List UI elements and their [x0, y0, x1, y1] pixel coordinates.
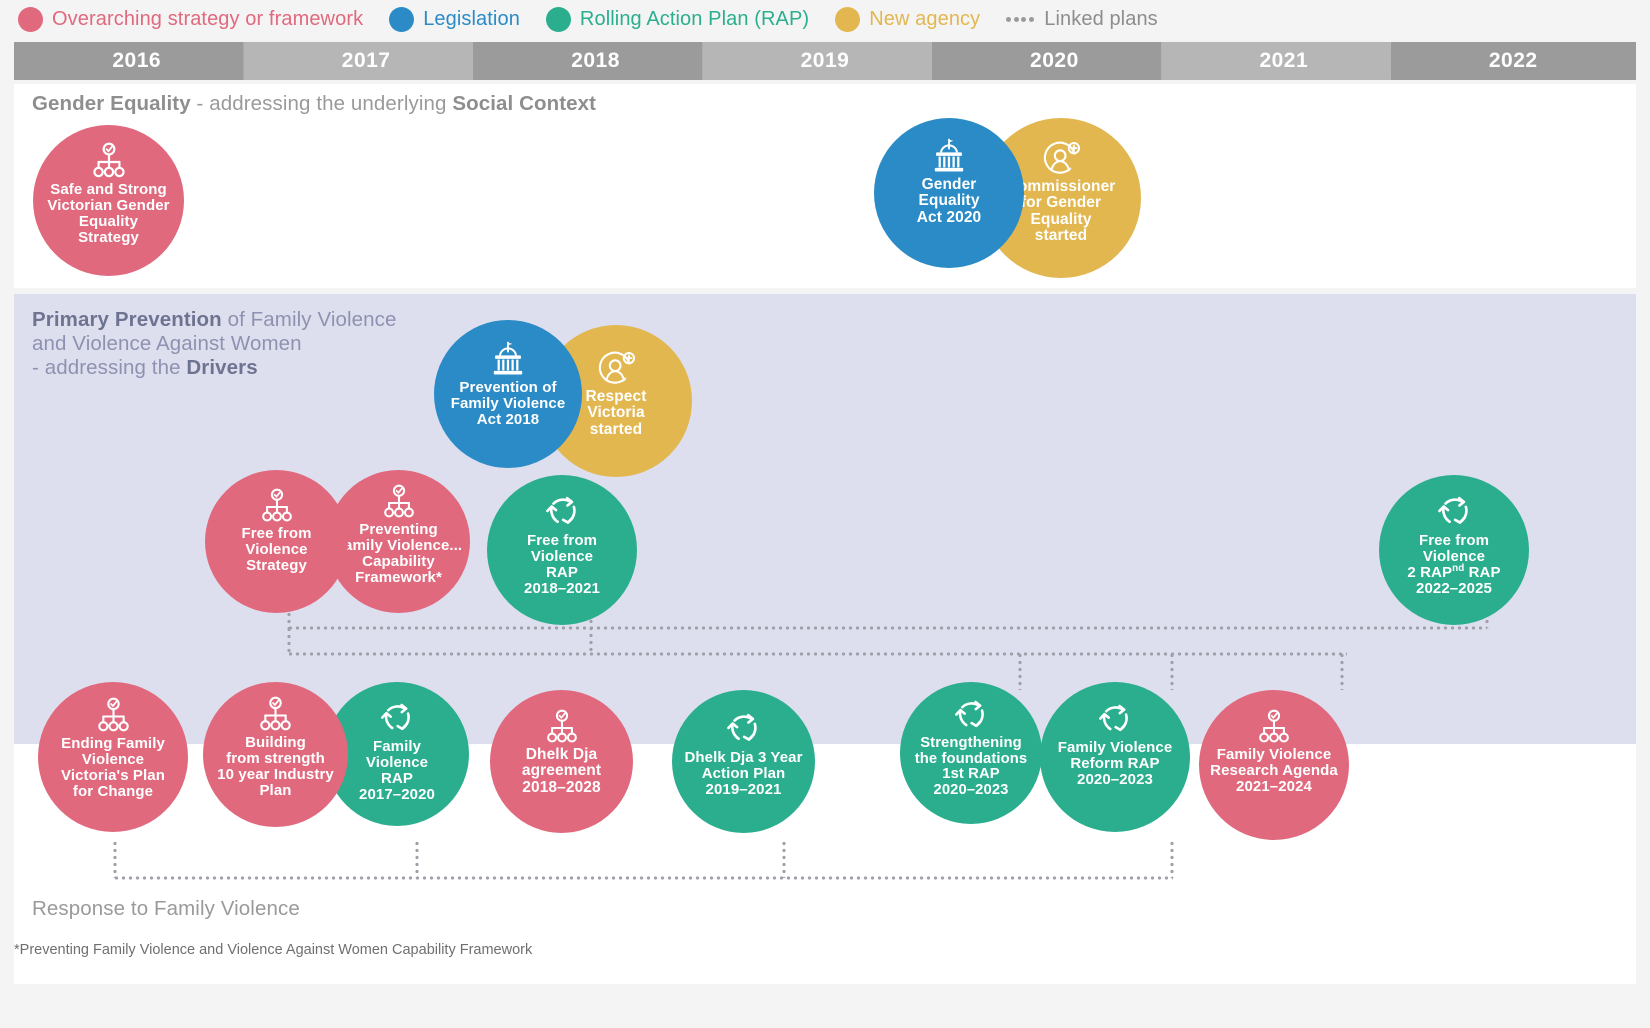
node-label-line: Violence: [331, 755, 463, 771]
node-label: Free fromViolence2 RAPnd RAP2022–2025: [1379, 533, 1529, 597]
cycle-arrows-icon: [1434, 492, 1475, 533]
node-label: Prevention ofFamily ViolenceAct 2018: [434, 380, 582, 428]
node-label-line: Equality: [39, 214, 178, 230]
org-chart-check-icon: [1255, 709, 1293, 747]
node-label-line: Family Violence: [1205, 747, 1343, 763]
node-date-range: 2022–2025: [1385, 581, 1523, 597]
parliament-building-icon: [488, 340, 528, 380]
legend-label-rap: Rolling Action Plan (RAP): [580, 8, 809, 31]
cycle-arrows-icon: [951, 696, 991, 736]
dotted-line-swatch-icon: [1006, 17, 1036, 22]
node-label: Ending FamilyViolenceVictoria's Planfor …: [38, 736, 188, 800]
node-label-line: Strategy: [211, 558, 342, 574]
node-family-violence-reform-rap[interactable]: Family ViolenceReform RAP2020–2023: [1040, 682, 1190, 832]
node-label-line: Reform RAP: [1046, 756, 1184, 772]
node-preventing-family-violence-capability-framework[interactable]: PreventingFamily Violence...CapabilityFr…: [327, 470, 470, 613]
node-label-line: for Change: [44, 784, 182, 800]
year-chevron-2020: 2020: [932, 42, 1177, 80]
node-label-line: Violence: [493, 549, 631, 565]
band-title-prevention-line2: and Violence Against Women: [32, 332, 397, 356]
circle-swatch-agency-icon: [835, 7, 860, 32]
org-chart-check-icon: [258, 488, 296, 526]
node-label-line: 10 year Industry: [209, 767, 342, 783]
connector-horizontal-prevention-lower: [287, 652, 1347, 656]
band-title-primary-prevention: Primary Prevention of Family Violence an…: [32, 308, 397, 380]
node-label-line: agreement: [496, 763, 627, 779]
band-title-social-bold2: Social Context: [452, 92, 596, 115]
org-chart-check-icon: [89, 142, 129, 182]
cycle-arrows-icon: [377, 699, 417, 739]
node-dhelk-dja-3-year-action-plan[interactable]: Dhelk Dja 3 YearAction Plan2019–2021: [672, 690, 815, 833]
node-label-rap: 2 RAPnd RAP: [1385, 565, 1523, 581]
node-label-line: Violence: [211, 542, 342, 558]
node-label-line: RAP: [493, 565, 631, 581]
node-prevention-of-family-violence-act-2018[interactable]: Prevention ofFamily ViolenceAct 2018: [434, 320, 582, 468]
node-dhelk-dja-agreement[interactable]: Dhelk Djaagreement2018–2028: [490, 690, 633, 833]
node-label: Dhelk Djaagreement2018–2028: [490, 747, 633, 796]
node-ending-family-violence[interactable]: Ending FamilyViolenceVictoria's Planfor …: [38, 682, 188, 832]
legend-item-agency: New agency: [835, 7, 980, 32]
parliament-building-icon: [929, 137, 969, 177]
node-label-line: Ending Family: [44, 736, 182, 752]
node-label-line: Dhelk Dja: [496, 747, 627, 763]
legend: Overarching strategy or framework Legisl…: [0, 0, 1650, 38]
legend-item-linked-plans: Linked plans: [1006, 8, 1158, 31]
connector-vertical-to-research-agenda: [1340, 652, 1344, 690]
band-title-prevention-bold: Primary Prevention: [32, 308, 222, 331]
node-label-line: Gender: [880, 177, 1018, 193]
node-label-line: Capability: [333, 554, 464, 570]
band-title-social-bold: Gender Equality: [32, 92, 191, 115]
new-agency-person-plus-icon: [1041, 139, 1081, 179]
node-label-line: Strategy: [39, 230, 178, 246]
node-label-line: Family Violence...: [333, 538, 464, 554]
org-chart-check-icon: [94, 697, 133, 736]
node-label: Free fromViolenceStrategy: [205, 526, 348, 574]
cycle-arrows-icon: [723, 709, 764, 750]
connector-vertical-ffv-rap-down: [287, 626, 291, 654]
year-label: 2020: [1030, 49, 1079, 73]
legend-item-legislation: Legislation: [389, 7, 520, 32]
circle-swatch-strategy-icon: [18, 7, 43, 32]
node-gender-equality-act-2020[interactable]: GenderEqualityAct 2020: [874, 118, 1024, 268]
org-chart-check-icon: [543, 709, 581, 747]
org-chart-check-icon: [256, 696, 295, 735]
node-label-line: Safe and Strong: [39, 182, 178, 198]
year-ribbon: 2016201720182019202020212022: [14, 42, 1636, 80]
cycle-arrows-icon: [542, 492, 583, 533]
node-label-line: Dhelk Dja 3 Year: [678, 750, 809, 766]
node-date-range: 2019–2021: [678, 782, 809, 798]
band-title-social-context: Gender Equality - addressing the underly…: [32, 92, 596, 116]
node-strengthening-the-foundations-1st-rap[interactable]: Strengtheningthe foundations1st RAP2020–…: [900, 682, 1042, 824]
band-title-response: Response to Family Violence: [32, 897, 300, 921]
connector-vertical-to-fv-reform-rap: [1170, 652, 1174, 690]
legend-label-strategy: Overarching strategy or framework: [52, 8, 363, 31]
legend-label-linked-plans: Linked plans: [1044, 8, 1158, 31]
connector-horizontal-prevention-upper: [287, 626, 1487, 630]
node-label: Dhelk Dja 3 YearAction Plan2019–2021: [672, 750, 815, 798]
year-label: 2021: [1259, 49, 1308, 73]
year-chevron-2022: 2022: [1391, 42, 1636, 80]
node-label-line: 1st RAP: [906, 767, 1036, 783]
node-label: Family ViolenceReform RAP2020–2023: [1040, 740, 1190, 788]
node-label-line: Framework*: [333, 570, 464, 586]
legend-label-legislation: Legislation: [423, 8, 520, 31]
legend-label-agency: New agency: [869, 8, 980, 31]
year-chevron-2021: 2021: [1161, 42, 1406, 80]
cycle-arrows-icon: [1095, 700, 1135, 740]
node-label: Free fromViolenceRAP2018–2021: [487, 533, 637, 597]
node-free-from-violence-rap-2018-2021[interactable]: Free fromViolenceRAP2018–2021: [487, 475, 637, 625]
footnote-capability-framework: *Preventing Family Violence and Violence…: [14, 942, 532, 958]
node-label-line: Free from: [211, 526, 342, 542]
band-title-prevention-line3-rest: - addressing the: [32, 356, 186, 379]
node-date-range: 2017–2020: [331, 787, 463, 803]
node-label-line: from strength: [209, 751, 342, 767]
node-label-line: Act 2018: [440, 412, 576, 428]
node-label: PreventingFamily Violence...CapabilityFr…: [327, 522, 470, 586]
connector-vertical-to-strengthening: [1018, 652, 1022, 690]
node-label: Safe and StrongVictorian GenderEqualityS…: [33, 182, 184, 246]
node-label-line: Prevention of: [440, 380, 576, 396]
node-safe-and-strong[interactable]: Safe and StrongVictorian GenderEqualityS…: [33, 125, 184, 276]
band-title-social-rest: - addressing the underlying: [191, 92, 453, 115]
node-label-line: Family Violence: [1046, 740, 1184, 756]
node-label-line: Victoria's Plan: [44, 768, 182, 784]
node-date-range: 2018–2028: [496, 780, 627, 796]
year-label: 2016: [112, 49, 161, 73]
timeline-infographic: Overarching strategy or framework Legisl…: [0, 0, 1650, 1028]
connector-vertical-ending-fv: [113, 840, 117, 878]
year-label: 2017: [342, 49, 391, 73]
year-label: 2022: [1489, 49, 1538, 73]
node-date-range: 2020–2023: [1046, 772, 1184, 788]
node-label-line: Family Violence: [440, 396, 576, 412]
node-building-from-strength[interactable]: Buildingfrom strength10 year IndustryPla…: [203, 682, 348, 827]
node-label-line: Act 2020: [880, 210, 1018, 226]
circle-swatch-rap-icon: [546, 7, 571, 32]
year-label: 2018: [571, 49, 620, 73]
connector-vertical-dhelk-dja-3yr: [782, 840, 786, 878]
band-title-prevention-line3-bold: Drivers: [186, 356, 257, 379]
node-date-range: 2020–2023: [906, 783, 1036, 799]
node-free-from-violence-strategy[interactable]: Free fromViolenceStrategy: [205, 470, 348, 613]
node-label-line: Preventing: [333, 522, 464, 538]
node-family-violence-research-agenda[interactable]: Family ViolenceResearch Agenda2021–2024: [1199, 690, 1349, 840]
band-title-prevention-rest: of Family Violence: [222, 308, 397, 331]
circle-swatch-legislation-icon: [389, 7, 414, 32]
node-label-line: Victorian Gender: [39, 198, 178, 214]
connector-vertical-fv-rap-2017: [415, 840, 419, 878]
node-label-line: Research Agenda: [1205, 763, 1343, 779]
node-label-line: Plan: [209, 783, 342, 799]
node-date-range: 2018–2021: [493, 581, 631, 597]
node-label: Strengtheningthe foundations1st RAP2020–…: [900, 736, 1042, 799]
org-chart-check-icon: [380, 484, 418, 522]
node-free-from-violence-2nd-rap-2022-2025[interactable]: Free fromViolence2 RAPnd RAP2022–2025: [1379, 475, 1529, 625]
year-chevron-2018: 2018: [473, 42, 718, 80]
node-label-line: Action Plan: [678, 766, 809, 782]
node-label: Buildingfrom strength10 year IndustryPla…: [203, 735, 348, 799]
legend-item-rap: Rolling Action Plan (RAP): [546, 7, 809, 32]
node-label-line: Family: [331, 739, 463, 755]
node-label-line: RAP: [331, 771, 463, 787]
year-chevron-2017: 2017: [243, 42, 488, 80]
node-label: Family ViolenceResearch Agenda2021–2024: [1199, 747, 1349, 795]
legend-item-strategy: Overarching strategy or framework: [18, 7, 363, 32]
node-label-line: the foundations: [906, 752, 1036, 768]
node-date-range: 2021–2024: [1205, 779, 1343, 795]
node-label: GenderEqualityAct 2020: [874, 177, 1024, 226]
year-chevron-2016: 2016: [14, 42, 259, 80]
connector-vertical-fv-reform-rap-down: [1170, 840, 1174, 878]
connector-horizontal-response-rail: [113, 876, 1173, 880]
node-label-line: Free from: [1385, 533, 1523, 549]
node-label-line: Building: [209, 735, 342, 751]
node-label-line: Strengthening: [906, 736, 1036, 752]
year-chevron-2019: 2019: [702, 42, 947, 80]
year-label: 2019: [801, 49, 850, 73]
node-label-line: Equality: [880, 193, 1018, 209]
node-label-line: Free from: [493, 533, 631, 549]
new-agency-person-plus-icon: [596, 349, 636, 389]
node-label-line: Violence: [44, 752, 182, 768]
